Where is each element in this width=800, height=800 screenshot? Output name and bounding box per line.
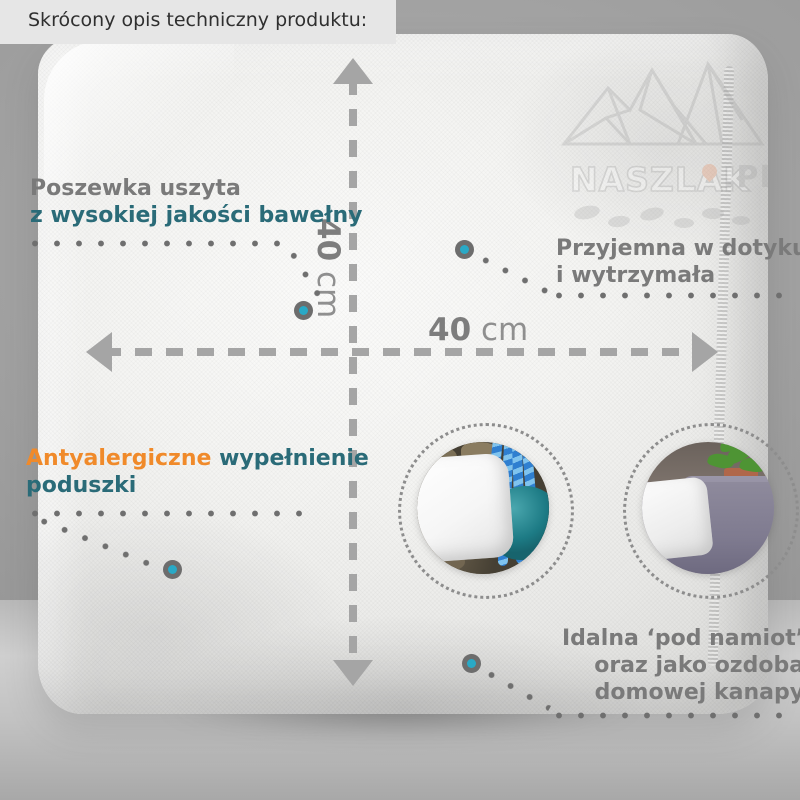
dimension-line-horizontal [104,348,698,356]
callout-line: i wytrzymała [556,263,800,290]
callout-node-cover-material [294,301,313,320]
infographic-canvas: NASZLAK .PL Skrócony opis techniczny pro… [0,0,800,800]
photo-outdoor-climbing[interactable] [417,442,549,574]
dimension-unit-horizontal: cm [471,312,528,348]
arrow-up-icon [333,58,373,84]
callout-text: wypełnienie [211,446,368,471]
arrow-left-icon [86,332,112,372]
dimension-label-vertical: 40 cm [310,218,346,318]
leader-dots [548,712,786,719]
arrow-right-icon [692,332,718,372]
callout-line: Poszewka uszyta [30,176,363,203]
callout-line: oraz jako ozdoba [562,653,800,680]
leader-dots [24,240,288,247]
photo-sofa-interior[interactable] [642,442,774,574]
callout-node-use-cases [462,654,481,673]
callout-line: z wysokiej jakości bawełny [30,203,363,230]
dimension-label-horizontal: 40 cm [428,312,528,348]
callout-touch-feel: Przyjemna w dotyku i wytrzymała [556,236,800,290]
header-bar: Skrócony opis techniczny produktu: [0,0,396,44]
callout-use-cases: Idalna ‘pod namiot’ oraz jako ozdoba dom… [562,626,800,706]
callout-cover-material: Poszewka uszyta z wysokiej jakości baweł… [30,176,363,230]
dimension-line-vertical [349,78,357,664]
leader-dots [24,510,318,517]
callout-node-touch-feel [455,240,474,259]
callout-filling: Antyalergiczne wypełnienie poduszki [26,446,369,500]
page-title: Skrócony opis techniczny produktu: [28,9,367,31]
callout-line: Przyjemna w dotyku [556,236,800,263]
callout-node-filling [163,560,182,579]
dimension-value-horizontal: 40 [428,312,471,348]
callout-keyword-antiallergic: Antyalergiczne [26,446,211,471]
leader-dots [548,292,786,299]
arrow-down-icon [333,660,373,686]
callout-line: Idalna ‘pod namiot’ [562,626,800,653]
callout-line: poduszki [26,473,369,500]
pillow-fabric-texture [38,34,768,714]
callout-line: Antyalergiczne wypełnienie [26,446,369,473]
callout-line: domowej kanapy [562,680,800,707]
